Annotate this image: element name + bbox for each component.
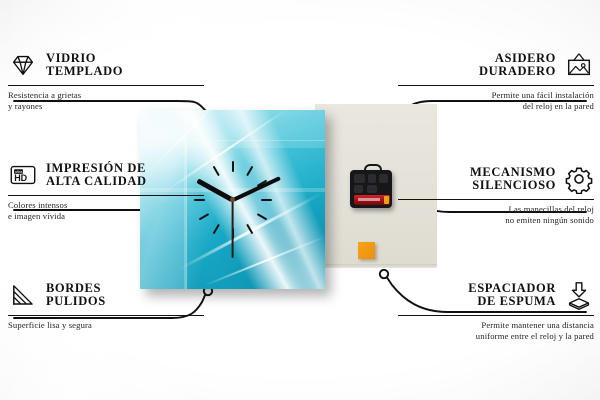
feature-impresion-alta-calidad: ultra HD IMPRESIÓN DE ALTA CALIDAD Color… (8, 158, 204, 221)
feature-subtitle: Permite una fácil instalación del reloj … (398, 90, 594, 111)
polished-edges-icon (8, 280, 38, 310)
foam-spacer (358, 242, 375, 259)
feature-bordes-pulidos: BORDES PULIDOS Superficie lisa y segura (8, 278, 204, 331)
picture-hanger-icon (564, 50, 594, 80)
clock-second-hand (232, 200, 234, 258)
feature-mecanismo-silencioso: MECANISMO SILENCIOSO Las manecillas del … (398, 162, 594, 225)
infographic-canvas: VIDRIO TEMPLADO Resistencia a grietas y … (0, 0, 600, 400)
feature-subtitle: Colores intensos e imagen vívida (8, 200, 204, 221)
divider (398, 199, 594, 200)
feature-subtitle: Las manecillas del reloj no emiten ningú… (398, 204, 594, 225)
feature-subtitle: Permite mantener una distancia uniforme … (398, 320, 594, 341)
mechanism-battery (354, 195, 390, 205)
divider (398, 315, 594, 316)
feature-title: ESPACIADOR DE ESPUMA (468, 282, 556, 309)
feature-title: MECANISMO SILENCIOSO (470, 166, 556, 193)
divider (8, 315, 204, 316)
svg-text:HD: HD (14, 173, 27, 183)
wall-panel-edge (315, 264, 437, 268)
diamond-icon (8, 50, 38, 80)
feature-espaciador-de-espuma: ESPACIADOR DE ESPUMA Permite mantener un… (398, 278, 594, 341)
divider (8, 85, 204, 86)
feature-subtitle: Superficie lisa y segura (8, 320, 204, 331)
connector-dot-espaciador (380, 270, 388, 278)
clock-center-pin (230, 197, 235, 202)
clock-mechanism (348, 164, 394, 208)
divider (398, 85, 594, 86)
feature-asidero-duradero: ASIDERO DURADERO Permite una fácil insta… (398, 48, 594, 111)
feature-subtitle: Resistencia a grietas y rayones (8, 90, 204, 111)
divider (8, 195, 204, 196)
foam-spacer-icon (564, 280, 594, 310)
gear-icon (564, 164, 594, 194)
feature-title: VIDRIO TEMPLADO (46, 52, 123, 79)
feature-title: IMPRESIÓN DE ALTA CALIDAD (46, 162, 147, 189)
feature-title: ASIDERO DURADERO (479, 52, 556, 79)
ultra-hd-icon: ultra HD (8, 160, 38, 190)
feature-vidrio-templado: VIDRIO TEMPLADO Resistencia a grietas y … (8, 48, 204, 111)
feature-title: BORDES PULIDOS (46, 282, 106, 309)
mechanism-body (350, 170, 392, 208)
